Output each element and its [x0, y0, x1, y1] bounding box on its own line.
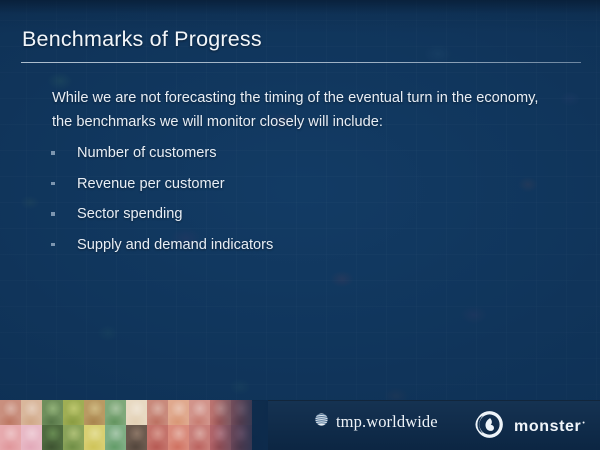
- photo-strip-tile: [231, 400, 252, 425]
- slide-intro-paragraph: While we are not forecasting the timing …: [52, 86, 544, 134]
- photo-strip-tile: [21, 425, 42, 450]
- title-divider: [21, 62, 581, 63]
- slide-title: Benchmarks of Progress: [22, 27, 262, 52]
- photo-strip-tile: [210, 425, 231, 450]
- photo-strip-tile: [42, 425, 63, 450]
- slide-footer: tmp.worldwide monster•: [0, 400, 600, 450]
- photo-strip-tile: [210, 400, 231, 425]
- list-item-label: Revenue per customer: [77, 176, 225, 192]
- footer-photo-strip: [0, 400, 252, 450]
- list-item-label: Supply and demand indicators: [77, 237, 273, 253]
- tmp-worldwide-wordmark: tmp.worldwide: [336, 412, 438, 432]
- photo-strip-tile: [105, 400, 126, 425]
- list-item-label: Sector spending: [77, 206, 182, 222]
- list-item: Supply and demand indicators: [47, 235, 547, 255]
- photo-strip-tile: [63, 425, 84, 450]
- list-item-label: Number of customers: [77, 145, 217, 161]
- bullet-marker-icon: [51, 151, 55, 155]
- photo-strip-tile: [189, 425, 210, 450]
- photo-strip-tile: [168, 400, 189, 425]
- globe-icon: [314, 412, 329, 432]
- photo-strip-tile: [105, 425, 126, 450]
- photo-strip-tile: [126, 425, 147, 450]
- photo-strip-tile: [63, 400, 84, 425]
- photo-strip-tile: [126, 400, 147, 425]
- photo-strip-tile: [147, 425, 168, 450]
- presentation-slide: Benchmarks of Progress While we are not …: [0, 0, 600, 450]
- monster-wordmark: monster•: [514, 418, 585, 436]
- photo-strip-tile: [42, 400, 63, 425]
- bullet-marker-icon: [51, 212, 55, 216]
- photo-strip-tile: [168, 425, 189, 450]
- trademark-icon: •: [582, 420, 585, 427]
- photo-strip-tile: [189, 400, 210, 425]
- photo-strip-tile: [147, 400, 168, 425]
- benchmarks-bullet-list: Number of customers Revenue per customer…: [47, 143, 547, 265]
- photo-strip-tile: [21, 400, 42, 425]
- list-item: Sector spending: [47, 204, 547, 224]
- photo-strip-tile: [231, 425, 252, 450]
- list-item: Number of customers: [47, 143, 547, 163]
- photo-strip-tile: [84, 400, 105, 425]
- monster-ring-icon: [474, 409, 505, 445]
- bullet-marker-icon: [51, 182, 55, 186]
- photo-strip-tile: [84, 425, 105, 450]
- monster-logo: monster•: [474, 409, 585, 445]
- bullet-marker-icon: [51, 243, 55, 247]
- photo-strip-tile: [0, 400, 21, 425]
- tmp-worldwide-logo: tmp.worldwide: [314, 412, 438, 432]
- photo-strip-tile: [0, 425, 21, 450]
- list-item: Revenue per customer: [47, 174, 547, 194]
